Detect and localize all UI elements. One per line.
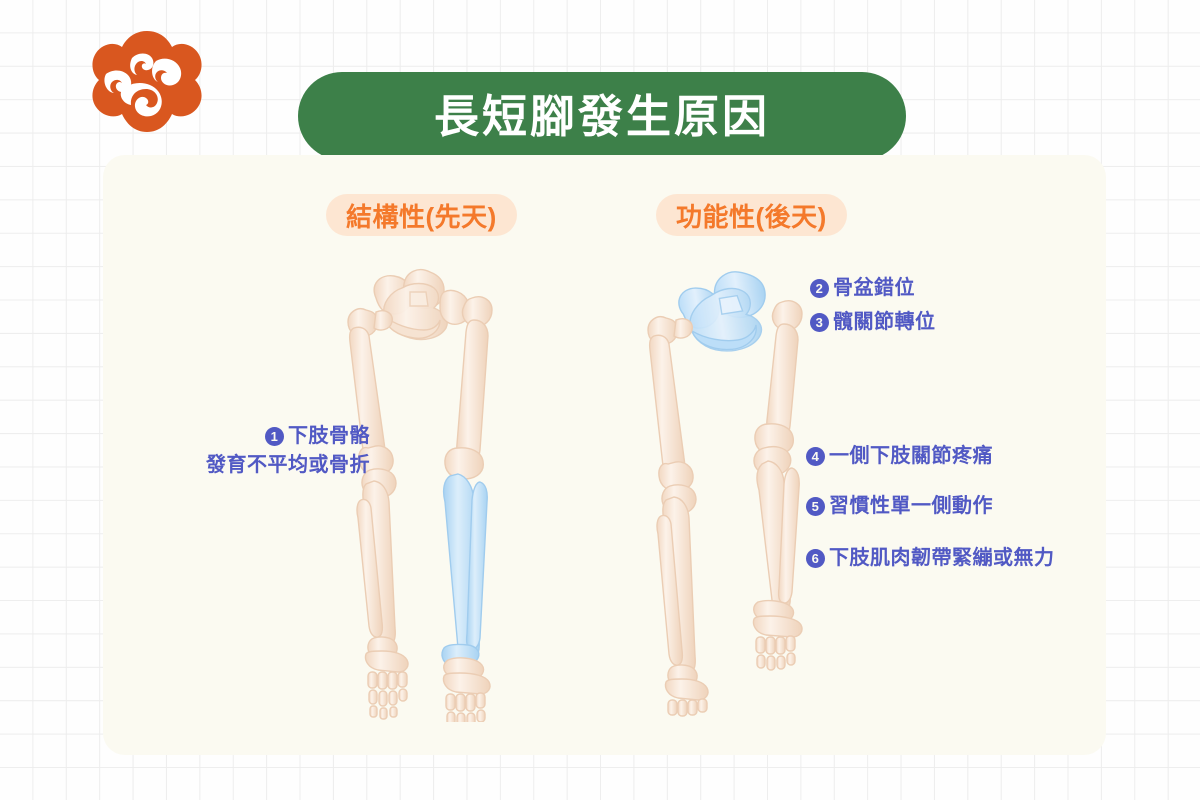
annotation-1: 1下肢骨骼 發育不平均或骨折 xyxy=(170,422,370,480)
annotation-6-text: 下肢肌肉韌帶緊繃或無力 xyxy=(829,547,1055,569)
annotation-5-text: 習慣性單一側動作 xyxy=(829,495,993,517)
annotation-2-text: 骨盆錯位 xyxy=(833,277,915,299)
badge-number-2: 2 xyxy=(810,279,829,298)
annotation-3: 3髖關節轉位 xyxy=(810,308,936,337)
badge-number-1: 1 xyxy=(265,427,284,446)
annotation-5: 5習慣性單一側動作 xyxy=(806,492,993,521)
badge-number-3: 3 xyxy=(810,313,829,332)
section-label-structural-text: 結構性(先天) xyxy=(346,197,497,234)
annotation-1-line2: 發育不平均或骨折 xyxy=(170,451,370,480)
annotation-1-text: 下肢骨骼 xyxy=(288,425,370,447)
section-label-functional-text: 功能性(後天) xyxy=(676,197,827,234)
annotation-3-text: 髖關節轉位 xyxy=(833,311,936,333)
section-label-functional: 功能性(後天) xyxy=(656,194,847,236)
badge-number-4: 4 xyxy=(806,447,825,466)
annotation-4-text: 一側下肢關節疼痛 xyxy=(829,445,993,467)
annotation-2: 2骨盆錯位 xyxy=(810,274,915,303)
annotation-1-line1: 1下肢骨骼 xyxy=(170,422,370,451)
page-title: 長短腳發生原因 xyxy=(434,94,770,139)
structural-skeleton xyxy=(340,262,530,722)
annotation-4: 4一側下肢關節疼痛 xyxy=(806,442,993,471)
annotation-6: 6下肢肌肉韌帶緊繃或無力 xyxy=(806,544,1055,573)
section-label-structural: 結構性(先天) xyxy=(326,194,517,236)
cloud-ruyi-logo xyxy=(88,28,206,140)
badge-number-5: 5 xyxy=(806,497,825,516)
infographic-canvas: 長短腳發生原因 結構性(先天) 功能性(後天) xyxy=(0,0,1200,800)
badge-number-6: 6 xyxy=(806,549,825,568)
page-title-banner: 長短腳發生原因 xyxy=(298,72,906,160)
